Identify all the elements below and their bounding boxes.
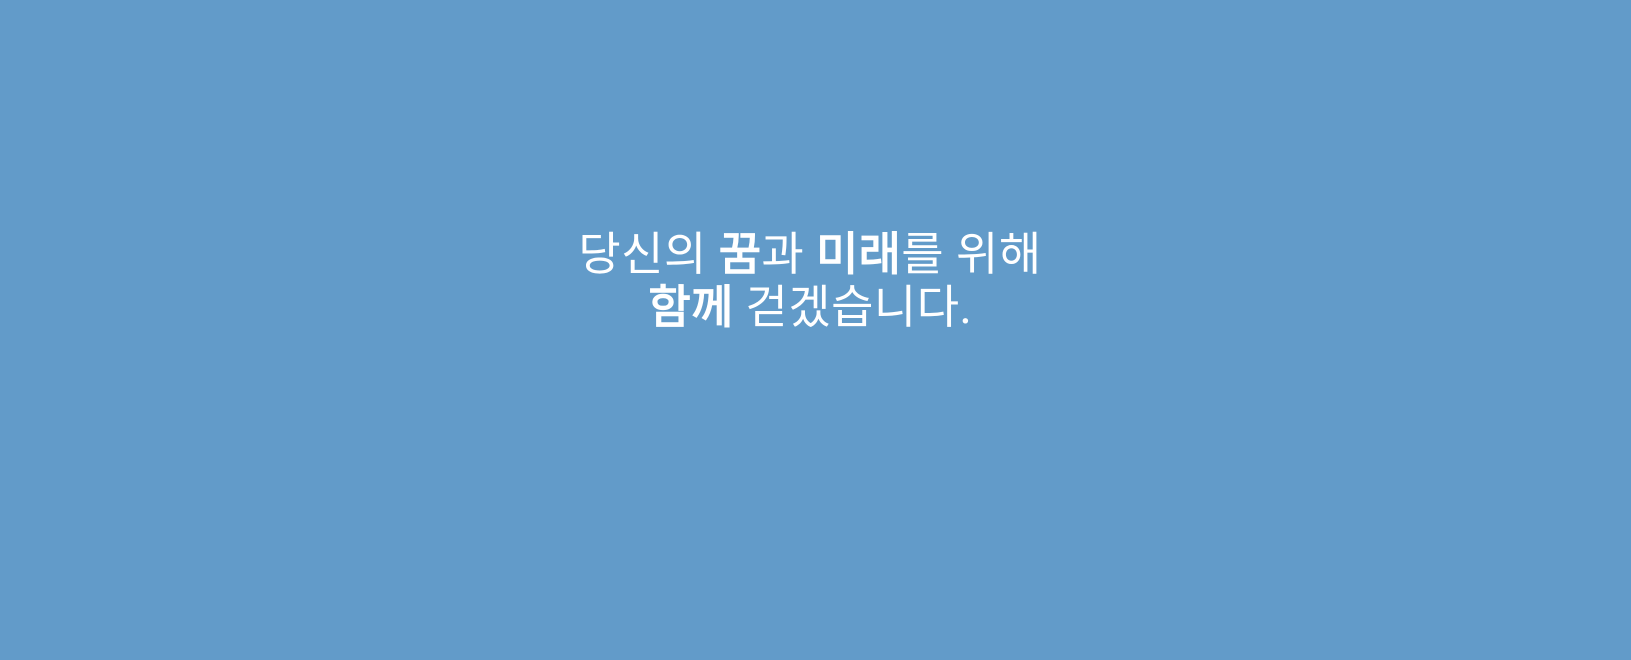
slogan-line-1-segment-4-emphasis: 미래: [816, 229, 901, 280]
slogan-line-1: 당신의 꿈과 미래를 위해: [0, 228, 1620, 281]
slogan-banner: 당신의 꿈과 미래를 위해 함께 걷겠습니다.: [0, 0, 1631, 660]
slogan-text-block: 당신의 꿈과 미래를 위해 함께 걷겠습니다.: [0, 228, 1620, 334]
slogan-line-1-segment-5: 를 위해: [901, 229, 1041, 280]
slogan-line-2-segment-2: 걷겠습니다.: [733, 282, 971, 333]
slogan-line-1-segment-3: 과: [761, 229, 816, 280]
slogan-line-1-segment-1: 당신의: [578, 229, 718, 280]
slogan-line-1-segment-2-emphasis: 꿈: [719, 229, 762, 280]
slogan-line-2: 함께 걷겠습니다.: [0, 281, 1620, 334]
slogan-line-2-segment-1-emphasis: 함께: [648, 282, 733, 333]
